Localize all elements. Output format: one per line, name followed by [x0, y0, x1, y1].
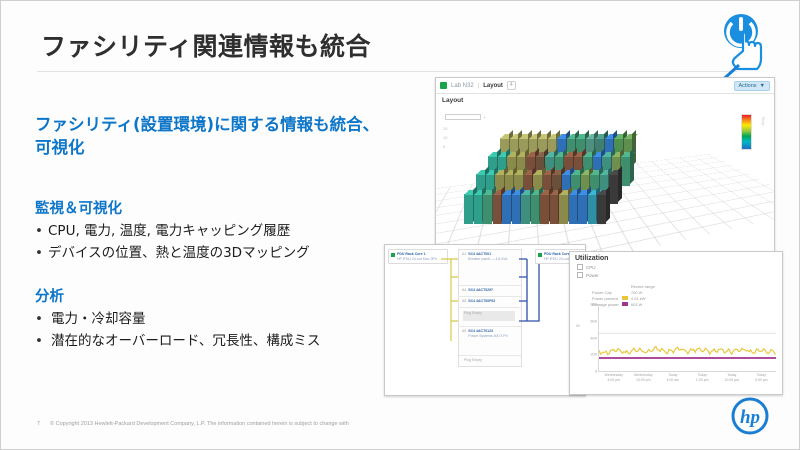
actions-label: Actions — [739, 83, 757, 89]
breadcrumb-current[interactable]: Layout — [483, 83, 503, 89]
temperature-legend-gradient — [741, 114, 752, 150]
radio-icon[interactable] — [577, 264, 583, 270]
list-item-label: デバイスの位置、熱と温度の3Dマッピング — [48, 243, 310, 263]
axis-tick: 5 — [443, 142, 447, 151]
zoom-slider[interactable]: - + — [442, 114, 486, 120]
title-divider — [37, 71, 737, 72]
page-title: ファシリティ関連情報も統合 — [41, 27, 461, 63]
list-item-label: CPU, 電力, 温度, 電力キャッピング履歴 — [48, 221, 290, 241]
x-tick: Today10:00 pm — [724, 373, 739, 382]
hp-logo: hp — [731, 397, 769, 435]
breadcrumb-count-badge: 4 — [507, 81, 516, 90]
tree-node-subtitle: Breaker panel — 4.8 kVA — [468, 257, 507, 261]
temperature-legend-label: Temp — [761, 116, 766, 126]
rack[interactable] — [474, 194, 483, 224]
x-tick: Wednesday4:00 pm — [605, 373, 623, 382]
status-dot-icon — [391, 253, 395, 257]
rack[interactable] — [597, 194, 606, 224]
chart-plot-area[interactable]: 800 600 400 200 0 Wednesday4:00 pmWednes… — [598, 304, 776, 372]
chart-option[interactable]: CPU — [570, 262, 782, 270]
section-heading: 監視＆可視化 — [35, 197, 415, 218]
bullet-glyph: • — [35, 309, 51, 329]
rack-side — [630, 148, 634, 184]
tree-node-text: SC4 4ACT0123 Power Systems 400 3 Ph — [468, 329, 507, 353]
tree-node-subtitle: Power Systems 400 3 Ph — [468, 334, 507, 338]
list-item: • 潜在的なオーバーロード、冗長性、構成ミス — [35, 331, 415, 351]
list-item-label: 電力・冷却容量 — [51, 309, 146, 329]
list-item: • CPU, 電力, 温度, 電力キャッピング履歴 — [35, 221, 415, 241]
rack[interactable] — [540, 194, 549, 224]
zoom-in-icon[interactable]: + — [483, 115, 485, 120]
tree-node-text: SC4 4ACT0297 — [468, 288, 493, 294]
status-check-icon — [440, 82, 447, 89]
axis-tick: 10 — [443, 133, 447, 142]
power-topology-screenshot: PDU Rack Core 1 HP iPDU 24-out Mon 3Ph A… — [384, 244, 586, 396]
empty-slot-label: Plug Empty — [464, 311, 482, 315]
chart-option-label: Power — [586, 273, 599, 278]
axis-tick: 15 — [443, 124, 447, 133]
empty-slot-label: Plug Empty — [464, 358, 482, 362]
rack[interactable] — [493, 194, 502, 224]
rack[interactable] — [502, 194, 511, 224]
rack[interactable] — [569, 194, 578, 224]
section-monitoring: 監視＆可視化 • CPU, 電力, 温度, 電力キャッピング履歴 • デバイスの… — [35, 197, 415, 264]
x-tick: Today9:00 pm — [755, 373, 768, 382]
power-button-icon — [713, 7, 775, 71]
rack[interactable] — [621, 156, 630, 186]
breadcrumb-root[interactable]: Lab N32 — [451, 83, 474, 89]
x-tick: Today4:00 am — [666, 373, 679, 382]
slot-number: A9 — [462, 329, 466, 353]
list-item[interactable]: A1 SC4 4ACT001 Breaker panel — 4.8 kVA — [459, 250, 521, 286]
tree-node-title: SC4 4ACT0297 — [468, 288, 493, 293]
lead-statement: ファシリティ(設置環境)に関する情報も統合、可視化 — [35, 113, 395, 160]
list-item[interactable]: A5 SC4 4ACT00F03 — [459, 297, 521, 308]
list-item: • 電力・冷却容量 — [35, 309, 415, 329]
x-tick: Wednesday10:00 pm — [634, 373, 652, 382]
slot-number: A4 — [462, 288, 466, 294]
x-tick: Today1:00 pm — [696, 373, 709, 382]
section-analysis: 分析 • 電力・冷却容量 • 潜在的なオーバーロード、冗長性、構成ミス — [35, 285, 415, 352]
breadcrumb-separator: | — [478, 83, 480, 89]
rack[interactable] — [609, 174, 618, 204]
layout-panel-title: Layout — [436, 94, 774, 104]
chart-option[interactable]: Power — [570, 270, 782, 278]
bullet-glyph: • — [35, 243, 48, 263]
y-tick: 0 — [595, 369, 597, 374]
rack[interactable] — [521, 194, 530, 224]
zoom-slider-track[interactable] — [445, 114, 481, 120]
axis-ticks: 15 10 5 — [443, 124, 447, 151]
y-axis-label: W — [576, 323, 580, 328]
rack[interactable] — [578, 194, 587, 224]
breaker-panel-list[interactable]: A1 SC4 4ACT001 Breaker panel — 4.8 kVA A… — [458, 249, 522, 367]
list-item[interactable]: A9 SC4 4ACT0123 Power Systems 400 3 Ph — [459, 326, 521, 356]
chart-panel-title: Utilization — [570, 252, 782, 262]
slot-number: A5 — [462, 299, 466, 305]
rack[interactable] — [483, 194, 492, 224]
chevron-down-icon: ▼ — [760, 83, 765, 89]
y-tick: 600 — [590, 318, 597, 323]
status-dot-icon — [538, 253, 542, 257]
rack[interactable] — [531, 194, 540, 224]
chart-option-label: CPU — [586, 265, 596, 270]
tree-node-text: PDU Rack Core 1 HP iPDU 24-out Mon 3Ph — [397, 252, 437, 261]
connector-blue — [519, 255, 541, 345]
bullet-glyph: • — [35, 221, 48, 241]
zoom-out-icon[interactable]: - — [442, 115, 443, 120]
chart-series — [599, 304, 776, 371]
tree-node-text: SC4 4ACT00F03 — [468, 299, 495, 305]
y-tick: 200 — [590, 352, 597, 357]
utilization-screenshot: Utilization CPU Power Recent range Power… — [569, 251, 783, 395]
tree-node-subtitle: HP iPDU 24-out Mon 3Ph — [397, 257, 437, 261]
svg-text:hp: hp — [740, 407, 760, 428]
tree-node-text: SC4 4ACT001 Breaker panel — 4.8 kVA — [468, 252, 507, 283]
page-number: 7 — [37, 421, 40, 427]
rack[interactable] — [464, 194, 473, 224]
bullet-glyph: • — [35, 331, 51, 351]
tree-node-title: SC4 4ACT00F03 — [468, 299, 495, 304]
layout-screenshot: Lab N32 | Layout 4 Actions ▼ Layout - + … — [435, 77, 775, 261]
rack[interactable] — [588, 194, 597, 224]
y-tick: 400 — [590, 335, 597, 340]
y-tick: 800 — [590, 302, 597, 307]
copyright-text: © Copyright 2013 Hewlett-Packard Develop… — [50, 421, 349, 427]
rack-side — [618, 166, 622, 202]
rack-row[interactable] — [464, 194, 607, 224]
rack[interactable] — [512, 194, 521, 224]
section-heading: 分析 — [35, 285, 415, 306]
actions-button[interactable]: Actions ▼ — [734, 81, 771, 91]
list-item: • デバイスの位置、熱と温度の3Dマッピング — [35, 243, 415, 263]
radio-icon[interactable] — [577, 272, 583, 278]
list-item[interactable]: A4 SC4 4ACT0297 — [459, 286, 521, 297]
list-item-label: 潜在的なオーバーロード、冗長性、構成ミス — [51, 331, 320, 351]
tree-node[interactable]: PDU Rack Core 1 HP iPDU 24-out Mon 3Ph — [388, 249, 448, 264]
rack[interactable] — [559, 194, 568, 224]
rack-side — [606, 186, 610, 222]
layout-toolbar: Lab N32 | Layout 4 Actions ▼ — [436, 78, 774, 94]
footer: 7 © Copyright 2013 Hewlett-Packard Devel… — [37, 421, 349, 427]
slide: ファシリティ関連情報も統合 ファシリティ(設置環境)に関する情報も統合、可視化 … — [0, 0, 800, 450]
legend-swatch — [622, 296, 628, 300]
layout-3d-canvas[interactable]: - + 15 10 5 Temp — [436, 110, 774, 260]
slot-number: A1 — [462, 252, 466, 283]
rack[interactable] — [550, 194, 559, 224]
